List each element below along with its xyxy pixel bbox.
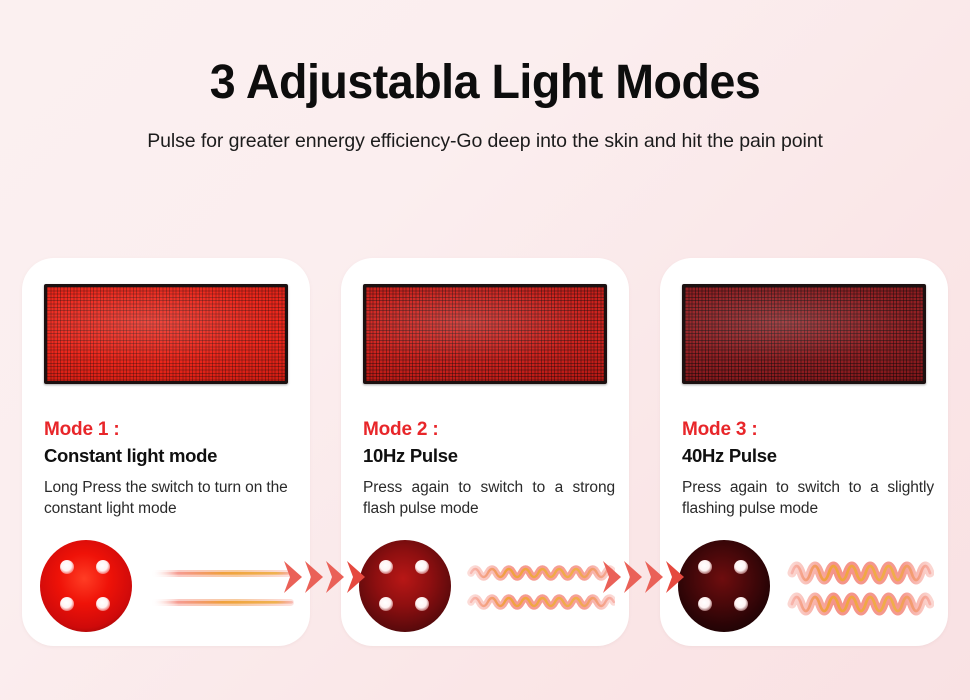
chevron-right-icon: [325, 560, 345, 594]
page-root: 3 Adjustabla Light Modes Pulse for great…: [0, 0, 970, 700]
mode-illustration-2: [341, 536, 629, 640]
pulse-wave-icon: [467, 552, 615, 624]
constant-beam-icon: [148, 552, 296, 624]
pulse-wave-icon: [786, 552, 934, 624]
mode-description: Press again to switch to a slightly flas…: [682, 477, 934, 520]
led-panel-icon: [363, 284, 607, 384]
mode-cards-container: Mode 1 : Constant light mode Long Press …: [0, 258, 970, 650]
mode-description: Long Press the switch to turn on the con…: [44, 477, 296, 520]
mode-illustration-3: [660, 536, 948, 640]
mode-card-2[interactable]: Mode 2 : 10Hz Pulse Press again to switc…: [341, 258, 629, 646]
mode-text-block-3: Mode 3 : 40Hz Pulse Press again to switc…: [682, 418, 934, 520]
mode-label: Mode 1 :: [44, 418, 296, 442]
led-panel-gloss: [685, 287, 923, 381]
led-dot: [60, 560, 74, 574]
arrow-group-2: [602, 552, 682, 602]
mode-label: Mode 2 :: [363, 418, 615, 442]
led-panel-wrap-2: [363, 284, 607, 384]
led-circle-icon: [359, 540, 451, 632]
arrow-group-1: [283, 552, 363, 602]
header: 3 Adjustabla Light Modes Pulse for great…: [0, 0, 970, 153]
led-panel-gloss: [366, 287, 604, 381]
mode-illustration-1: [22, 536, 310, 640]
mode-card-1[interactable]: Mode 1 : Constant light mode Long Press …: [22, 258, 310, 646]
led-panel-wrap-1: [44, 284, 288, 384]
page-title: 3 Adjustabla Light Modes: [15, 58, 956, 108]
led-dot: [734, 560, 748, 574]
page-subtitle: Pulse for greater ennergy efficiency-Go …: [0, 130, 970, 153]
led-dot: [96, 597, 110, 611]
led-circle-icon: [40, 540, 132, 632]
mode-card-3[interactable]: Mode 3 : 40Hz Pulse Press again to switc…: [660, 258, 948, 646]
led-dot: [698, 597, 712, 611]
led-dot: [734, 597, 748, 611]
led-dot: [415, 560, 429, 574]
mode-text-block-1: Mode 1 : Constant light mode Long Press …: [44, 418, 296, 520]
led-panel-icon: [682, 284, 926, 384]
led-dot: [415, 597, 429, 611]
chevron-right-icon: [665, 560, 685, 594]
led-dot: [698, 560, 712, 574]
led-panel-icon: [44, 284, 288, 384]
chevron-right-icon: [602, 560, 622, 594]
chevron-right-icon: [623, 560, 643, 594]
mode-label: Mode 3 :: [682, 418, 934, 442]
chevron-right-icon: [644, 560, 664, 594]
led-dot: [96, 560, 110, 574]
led-dot: [379, 597, 393, 611]
chevron-right-icon: [346, 560, 366, 594]
chevron-right-icon: [304, 560, 324, 594]
chevron-right-icon: [283, 560, 303, 594]
led-circle-icon: [678, 540, 770, 632]
mode-name: 10Hz Pulse: [363, 444, 615, 468]
led-dot: [60, 597, 74, 611]
mode-text-block-2: Mode 2 : 10Hz Pulse Press again to switc…: [363, 418, 615, 520]
mode-name: 40Hz Pulse: [682, 444, 934, 468]
led-dot: [379, 560, 393, 574]
led-panel-gloss: [47, 287, 285, 381]
mode-name: Constant light mode: [44, 444, 296, 468]
led-panel-wrap-3: [682, 284, 926, 384]
mode-description: Press again to switch to a strong flash …: [363, 477, 615, 520]
